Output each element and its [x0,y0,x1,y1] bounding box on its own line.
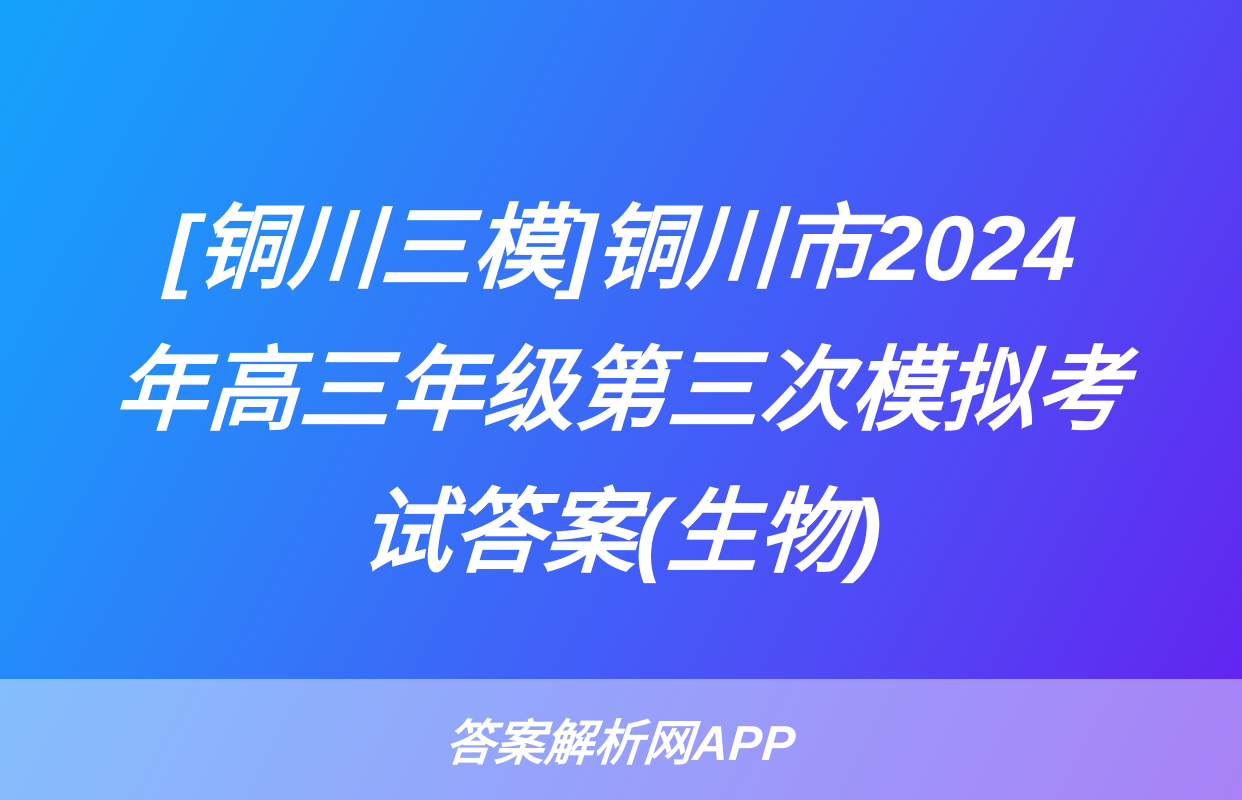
title-card: [铜川三模]铜川市2024 年高三年级第三次模拟考 试答案(生物) 答案解析网A… [0,0,1242,800]
title-line-2: 年高三年级第三次模拟考 [0,320,1242,462]
watermark-band: 答案解析网APP [0,679,1242,800]
page-title: [铜川三模]铜川市2024 年高三年级第三次模拟考 试答案(生物) [0,178,1242,604]
title-line-3: 试答案(生物) [0,462,1242,604]
title-line-1: [铜川三模]铜川市2024 [0,178,1242,320]
watermark-label: 答案解析网APP [0,679,1242,800]
